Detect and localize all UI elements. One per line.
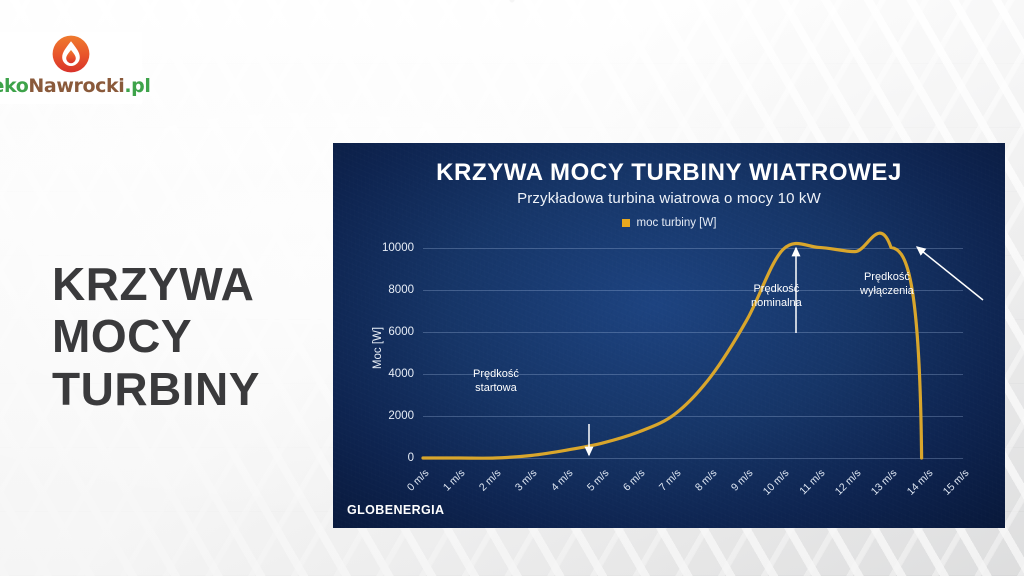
chart-subtitle: Przykładowa turbina wiatrowa o mocy 10 k…	[333, 190, 1005, 207]
legend-label: moc turbiny [W]	[637, 217, 717, 229]
headline-line-1: KRZYWA	[52, 258, 322, 310]
y-axis-tick-label: 0	[408, 452, 414, 464]
chart-image: KRZYWA MOCY TURBINY WIATROWEJ Przykładow…	[333, 143, 1005, 528]
annotation-rated: Prędkość nominalna	[751, 283, 802, 311]
annotation-cut-in-line1: Prędkość	[473, 368, 519, 382]
y-axis-tick-label: 10000	[382, 242, 414, 254]
headline-line-3: TURBINY	[52, 363, 322, 415]
logo-text-eko: eko	[0, 75, 28, 97]
logo-text-tld: .pl	[124, 75, 150, 97]
annotation-rated-line1: Prędkość	[751, 283, 802, 297]
slide-canvas: ekoNawrocki.pl KRZYWA MOCY TURBINY KRZYW…	[0, 0, 1024, 576]
chart-title: KRZYWA MOCY TURBINY WIATROWEJ	[333, 159, 1005, 187]
site-logo[interactable]: ekoNawrocki.pl	[0, 32, 142, 104]
annotation-cut-out-line2: wyłączenia	[860, 285, 914, 299]
chart-legend: moc turbiny [W]	[333, 217, 1005, 229]
y-axis-tick-label: 8000	[388, 284, 414, 296]
page-title: KRZYWA MOCY TURBINY	[52, 258, 322, 415]
globenergia-brand: GLOBENERGIA	[347, 503, 444, 517]
legend-swatch-icon	[622, 219, 630, 227]
y-axis-tick-label: 2000	[388, 410, 414, 422]
flame-drop-icon	[51, 34, 91, 74]
annotation-cut-out: Prędkość wyłączenia	[860, 271, 914, 299]
logo-wordmark: ekoNawrocki.pl	[0, 77, 150, 96]
annotation-cut-out-line1: Prędkość	[860, 271, 914, 285]
annotation-cut-in: Prędkość startowa	[473, 368, 519, 396]
annotation-cut-in-line2: startowa	[473, 382, 519, 396]
y-axis-tick-label: 4000	[388, 368, 414, 380]
logo-text-name: Nawrocki	[28, 75, 124, 97]
y-axis-tick-label: 6000	[388, 326, 414, 338]
annotation-rated-line2: nominalna	[751, 297, 802, 311]
y-axis-label: Moc [W]	[372, 327, 384, 369]
headline-line-2: MOCY	[52, 310, 322, 362]
